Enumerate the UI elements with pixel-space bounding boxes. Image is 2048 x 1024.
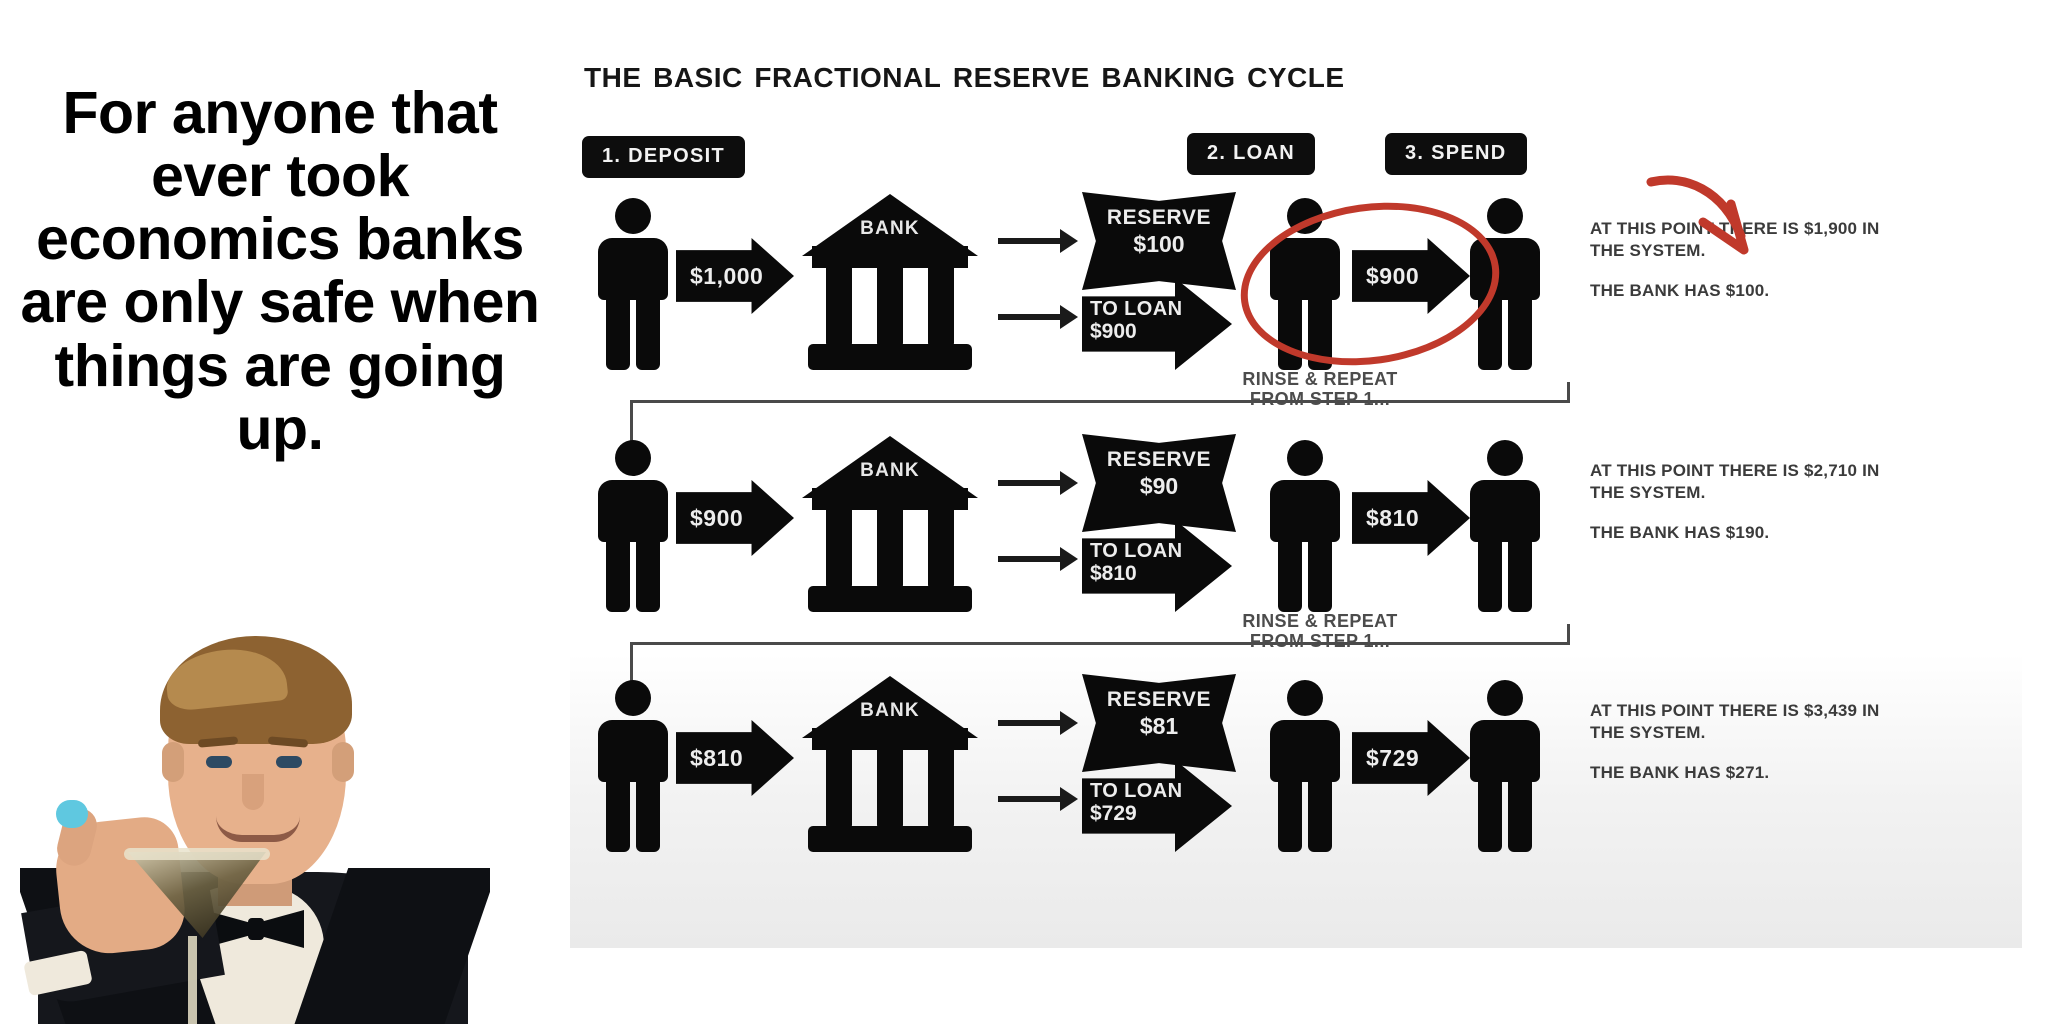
hair-shape xyxy=(160,636,352,744)
person-leg-right xyxy=(636,298,660,370)
bank-base xyxy=(808,826,972,852)
bank-columns xyxy=(820,264,960,346)
bank-to-reserve-arrow xyxy=(998,480,1062,486)
to-loan-arrow: TO LOAN $729 xyxy=(1082,760,1232,852)
person-head xyxy=(1287,440,1323,476)
person-leg-left xyxy=(1278,540,1302,612)
reserve-amount: $90 xyxy=(1082,474,1236,499)
person-leg-right xyxy=(636,540,660,612)
person-leg-left xyxy=(1278,298,1302,370)
depositor-person-icon xyxy=(598,440,668,612)
person-body xyxy=(1470,238,1540,300)
caption-panel: For anyone that ever took economics bank… xyxy=(0,0,560,1024)
person-body xyxy=(1270,480,1340,542)
champagne-glass-rim xyxy=(124,848,270,860)
deposit-amount-arrow: $810 xyxy=(676,720,794,796)
person-leg-left xyxy=(1478,540,1502,612)
bank-column xyxy=(877,506,903,588)
reserve-amount: $81 xyxy=(1082,714,1236,739)
connector-vertical-right xyxy=(1567,382,1570,403)
eye-left xyxy=(206,756,232,768)
cycle-note-3: AT THIS POINT THERE IS $3,439 IN THE SYS… xyxy=(1590,700,1880,783)
bank-column xyxy=(928,264,954,346)
ear-right-shape xyxy=(332,742,354,782)
glass-stem xyxy=(188,936,197,1024)
to-loan-amount: $729 xyxy=(1090,802,1232,826)
bank-columns xyxy=(820,746,960,828)
dicaprio-cheers-image xyxy=(20,610,490,1024)
to-loan-label: TO LOAN xyxy=(1090,298,1232,320)
reserve-label: RESERVE xyxy=(1082,448,1236,471)
person-leg-left xyxy=(606,780,630,852)
bank-to-reserve-arrow xyxy=(998,238,1062,244)
person-body xyxy=(598,720,668,782)
depositor-person-icon xyxy=(598,680,668,852)
person-body xyxy=(1270,720,1340,782)
person-head xyxy=(615,680,651,716)
to-loan-amount: $810 xyxy=(1090,562,1232,586)
reserve-starburst: RESERVE $90 xyxy=(1082,434,1236,532)
smile-shape xyxy=(216,816,300,842)
to-loan-arrow: TO LOAN $900 xyxy=(1082,278,1232,370)
depositor-person-icon xyxy=(598,198,668,370)
person-leg-left xyxy=(1478,780,1502,852)
bank-column xyxy=(877,746,903,828)
bank-base xyxy=(808,344,972,370)
nose-shape xyxy=(242,774,264,810)
ear-left-shape xyxy=(162,742,184,782)
thumb-ring xyxy=(56,800,88,828)
person-leg-left xyxy=(606,540,630,612)
bank-holdings-note: THE BANK HAS $100. xyxy=(1590,280,1880,302)
bank-label: BANK xyxy=(802,700,978,722)
red-arrow-annotation xyxy=(1645,166,1795,276)
spend-amount-arrow: $900 xyxy=(1352,238,1470,314)
person-leg-right xyxy=(636,780,660,852)
person-leg-right xyxy=(1508,540,1532,612)
person-leg-left xyxy=(1278,780,1302,852)
person-leg-right xyxy=(1308,540,1332,612)
system-total-note: AT THIS POINT THERE IS $2,710 IN THE SYS… xyxy=(1590,460,1880,504)
bank-column xyxy=(928,746,954,828)
bank-to-loan-arrow xyxy=(998,556,1062,562)
reserve-starburst: RESERVE $100 xyxy=(1082,192,1236,290)
cycle-row-2: $900 BANK RESERVE $90 TO LOAN xyxy=(570,428,2022,628)
person-head xyxy=(1287,198,1323,234)
rinse-repeat-text: RINSE & REPEAT FROM STEP 1... xyxy=(1190,370,1450,410)
person-head xyxy=(1487,198,1523,234)
bowtie-knot xyxy=(248,918,264,940)
fractional-reserve-diagram: The Basic Fractional Reserve Banking Cyc… xyxy=(570,28,2022,948)
connector-vertical-right xyxy=(1567,624,1570,645)
bank-icon: BANK xyxy=(802,194,978,370)
step-badge-deposit: 1. DEPOSIT xyxy=(582,136,745,178)
bank-column xyxy=(877,264,903,346)
person-head xyxy=(1487,440,1523,476)
bank-column xyxy=(928,506,954,588)
bank-columns xyxy=(820,506,960,588)
person-head xyxy=(1487,680,1523,716)
bank-column xyxy=(826,506,852,588)
to-loan-label: TO LOAN xyxy=(1090,780,1232,802)
bank-column xyxy=(826,264,852,346)
meme-caption-text: For anyone that ever took economics bank… xyxy=(10,82,550,461)
bank-to-reserve-arrow xyxy=(998,720,1062,726)
bank-column xyxy=(826,746,852,828)
person-leg-left xyxy=(606,298,630,370)
rinse-repeat-line1: RINSE & REPEAT xyxy=(1190,612,1450,632)
cycle-row-3: $810 BANK RESERVE $81 TO LOAN xyxy=(570,668,2022,868)
reserve-starburst: RESERVE $81 xyxy=(1082,674,1236,772)
reserve-amount: $100 xyxy=(1082,232,1236,257)
bank-holdings-note: THE BANK HAS $190. xyxy=(1590,522,1880,544)
person-leg-right xyxy=(1308,298,1332,370)
bank-label: BANK xyxy=(802,460,978,482)
rinse-repeat-text: RINSE & REPEAT FROM STEP 1... xyxy=(1190,612,1450,652)
to-loan-amount: $900 xyxy=(1090,320,1232,344)
person-body xyxy=(598,238,668,300)
system-total-note: AT THIS POINT THERE IS $3,439 IN THE SYS… xyxy=(1590,700,1880,744)
rinse-repeat-line1: RINSE & REPEAT xyxy=(1190,370,1450,390)
bank-holdings-note: THE BANK HAS $271. xyxy=(1590,762,1880,784)
meme-page: For anyone that ever took economics bank… xyxy=(0,0,2048,1024)
person-leg-right xyxy=(1508,298,1532,370)
cycle-note-2: AT THIS POINT THERE IS $2,710 IN THE SYS… xyxy=(1590,460,1880,543)
diagram-title: The Basic Fractional Reserve Banking Cyc… xyxy=(584,52,1345,97)
step-badge-loan: 2. LOAN xyxy=(1187,133,1315,175)
to-loan-label: TO LOAN xyxy=(1090,540,1232,562)
person-body xyxy=(1270,238,1340,300)
merchant-person-icon xyxy=(1470,198,1540,370)
step-badge-spend: 3. SPEND xyxy=(1385,133,1527,175)
rinse-repeat-line2: FROM STEP 1... xyxy=(1190,390,1450,410)
eye-right xyxy=(276,756,302,768)
bank-icon: BANK xyxy=(802,436,978,612)
reserve-label: RESERVE xyxy=(1082,206,1236,229)
person-body xyxy=(1470,480,1540,542)
bank-to-loan-arrow xyxy=(998,796,1062,802)
borrower-person-icon xyxy=(1270,680,1340,852)
deposit-amount-arrow: $1,000 xyxy=(676,238,794,314)
bank-icon: BANK xyxy=(802,676,978,852)
person-leg-left xyxy=(1478,298,1502,370)
bank-to-loan-arrow xyxy=(998,314,1062,320)
person-head xyxy=(615,198,651,234)
person-body xyxy=(598,480,668,542)
deposit-amount-arrow: $900 xyxy=(676,480,794,556)
person-body xyxy=(1470,720,1540,782)
person-head xyxy=(615,440,651,476)
borrower-person-icon xyxy=(1270,198,1340,370)
merchant-person-icon xyxy=(1470,680,1540,852)
person-leg-right xyxy=(1308,780,1332,852)
bank-base xyxy=(808,586,972,612)
reserve-label: RESERVE xyxy=(1082,688,1236,711)
borrower-person-icon xyxy=(1270,440,1340,612)
person-leg-right xyxy=(1508,780,1532,852)
person-head xyxy=(1287,680,1323,716)
merchant-person-icon xyxy=(1470,440,1540,612)
bank-label: BANK xyxy=(802,218,978,240)
spend-amount-arrow: $729 xyxy=(1352,720,1470,796)
spend-amount-arrow: $810 xyxy=(1352,480,1470,556)
cycle-row-1: $1,000 BANK RESERVE $100 TO LOAN xyxy=(570,186,2022,386)
to-loan-arrow: TO LOAN $810 xyxy=(1082,520,1232,612)
rinse-repeat-line2: FROM STEP 1... xyxy=(1190,632,1450,652)
